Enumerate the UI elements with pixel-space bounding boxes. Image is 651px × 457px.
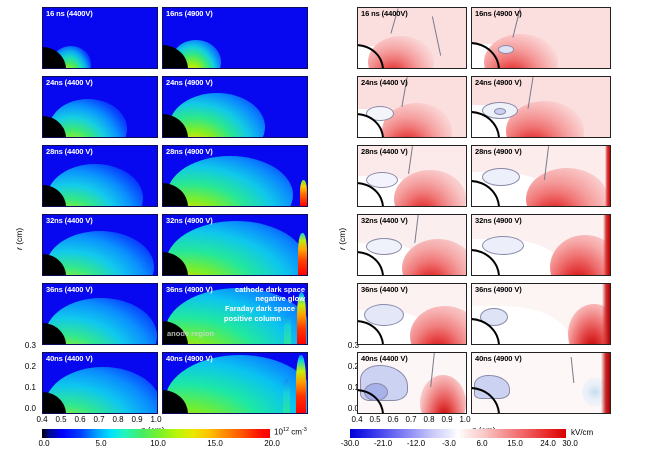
density-panel-16ns-4900V[interactable]: 16ns (4900 V) (162, 7, 308, 69)
panel-label: 36ns (4400 V) (361, 285, 408, 294)
left-ytick-0.0: 0.0 (14, 404, 36, 413)
density-panel-36ns-4900V[interactable]: 36ns (4900 V) cathode dark space negativ… (162, 283, 308, 345)
striation-band (284, 314, 291, 344)
density-panel-28ns-4900V[interactable]: 28ns (4900 V) (162, 145, 308, 207)
field-band (382, 103, 452, 138)
efield-cbtick-6: 6.0 (465, 439, 499, 448)
efield-panel-28ns-4400V[interactable]: 28ns (4400 V) (357, 145, 467, 207)
panel-label: 36ns (4900 V) (475, 285, 522, 294)
left-ytick-0.2: 0.2 (14, 362, 36, 371)
anode-field-wall (602, 284, 610, 344)
right-ytick-0.2: 0.2 (337, 362, 359, 371)
efield-panel-40ns-4900V[interactable]: 40ns (4900 V) (471, 352, 611, 414)
density-panel-24ns-4900V[interactable]: 24ns (4900 V) (162, 76, 308, 138)
right-ytick-0.3: 0.3 (337, 341, 359, 350)
panel-label: 40ns (4900 V) (475, 354, 522, 363)
anode-field-wall (601, 353, 610, 413)
panel-label: 36ns (4900 V) (166, 285, 213, 294)
efield-cbtick-15: 15.0 (498, 439, 532, 448)
contour-line (414, 215, 418, 243)
efield-panel-28ns-4900V[interactable]: 28ns (4900 V) (471, 145, 611, 207)
annotation-positive-column: positive column (224, 314, 281, 323)
negative-field-patch (498, 45, 514, 54)
panel-label: 24ns (4900 V) (475, 78, 522, 87)
efield-cbtick--30: -30.0 (333, 439, 367, 448)
efield-panel-32ns-4900V[interactable]: 32ns (4900 V) (471, 214, 611, 276)
field-band (402, 239, 467, 276)
striation-band (283, 379, 290, 413)
field-band (394, 170, 466, 207)
panel-label: 24ns (4400 V) (46, 78, 93, 87)
density-panel-16ns-4400V[interactable]: 16 ns (4400V) (42, 7, 158, 69)
panel-label: 28ns (4400 V) (46, 147, 93, 156)
efield-panel-40ns-4400V[interactable]: 40ns (4400 V) (357, 352, 467, 414)
field-band (506, 101, 584, 138)
annotation-anode-region: anode region (167, 329, 214, 338)
annotation-cathode-dark-space: cathode dark space (235, 285, 305, 294)
panel-label: 40ns (4400 V) (46, 354, 93, 363)
panel-label: 28ns (4900 V) (475, 147, 522, 156)
panel-label: 16 ns (4400V) (361, 9, 408, 18)
efield-panel-36ns-4900V[interactable]: 36ns (4900 V) (471, 283, 611, 345)
panel-label: 28ns (4400 V) (361, 147, 408, 156)
panel-label: 36ns (4400 V) (46, 285, 93, 294)
efield-cbtick--3: -3.0 (432, 439, 466, 448)
density-cbtick-5: 5.0 (84, 439, 118, 448)
electric-field-group: r (cm) 0.3 0.2 0.1 0.0 16 ns (4400V) (325, 0, 651, 457)
anode-stripe (300, 180, 307, 206)
panel-label: 40ns (4900 V) (166, 354, 213, 363)
density-panel-32ns-4400V[interactable]: 32ns (4400 V) (42, 214, 158, 276)
efield-panel-36ns-4400V[interactable]: 36ns (4400 V) (357, 283, 467, 345)
panel-label: 32ns (4400 V) (361, 216, 408, 225)
left-xtick-1.0: 1.0 (145, 415, 167, 424)
efield-cbtick--12: -12.0 (399, 439, 433, 448)
panel-label: 16ns (4900 V) (166, 9, 213, 18)
anode-field-wall (603, 215, 610, 275)
left-ytick-0.1: 0.1 (14, 383, 36, 392)
efield-cbtick--21: -21.0 (366, 439, 400, 448)
density-panel-40ns-4900V[interactable]: 40ns (4900 V) (162, 352, 308, 414)
field-band (526, 168, 608, 207)
annotation-faraday-dark-space: Faraday dark space (225, 304, 295, 313)
density-cbtick-20: 20.0 (255, 439, 289, 448)
density-panel-24ns-4400V[interactable]: 24ns (4400 V) (42, 76, 158, 138)
right-ytick-0.0: 0.0 (337, 404, 359, 413)
anode-field-wall (605, 146, 610, 206)
density-colorbar-unit: 1012 cm-3 (274, 426, 307, 437)
left-y-axis-label: r (cm) (14, 228, 24, 250)
panel-label: 24ns (4900 V) (166, 78, 213, 87)
figure-root: r (cm) 0.3 0.2 0.1 0.0 16 ns (4400V) 16n… (0, 0, 651, 457)
anode-stripe (296, 355, 306, 413)
efield-panel-32ns-4400V[interactable]: 32ns (4400 V) (357, 214, 467, 276)
density-panel-40ns-4400V[interactable]: 40ns (4400 V) (42, 352, 158, 414)
panel-label: 24ns (4400 V) (361, 78, 408, 87)
density-cbtick-0: 0.0 (27, 439, 61, 448)
density-blob (166, 221, 306, 276)
density-panel-32ns-4900V[interactable]: 32ns (4900 V) (162, 214, 308, 276)
negative-field-patch (366, 238, 402, 255)
contour-line (571, 357, 575, 383)
efield-cbtick-30: 30.0 (553, 439, 587, 448)
efield-colorbar (350, 429, 566, 438)
efield-colorbar-unit: kV/cm (571, 428, 593, 437)
negative-field-patch (482, 236, 524, 255)
field-band (410, 306, 467, 345)
annotation-negative-glow: negative glow (255, 294, 305, 303)
panel-label: 16 ns (4400V) (46, 9, 93, 18)
right-y-axis-label: r (cm) (337, 228, 347, 250)
efield-panel-24ns-4400V[interactable]: 24ns (4400 V) (357, 76, 467, 138)
contour-line (408, 146, 413, 174)
right-xtick-1.0: 1.0 (454, 415, 476, 424)
field-band (420, 375, 466, 414)
density-colorbar (42, 429, 270, 438)
panel-label: 32ns (4900 V) (166, 216, 213, 225)
density-panel-28ns-4400V[interactable]: 28ns (4400 V) (42, 145, 158, 207)
panel-label: 28ns (4900 V) (166, 147, 213, 156)
efield-panel-16ns-4400V[interactable]: 16 ns (4400V) (357, 7, 467, 69)
panel-label: 32ns (4900 V) (475, 216, 522, 225)
efield-panel-24ns-4900V[interactable]: 24ns (4900 V) (471, 76, 611, 138)
panel-label: 40ns (4400 V) (361, 354, 408, 363)
panel-label: 16ns (4900 V) (475, 9, 522, 18)
density-panel-36ns-4400V[interactable]: 36ns (4400 V) (42, 283, 158, 345)
left-ytick-0.3: 0.3 (14, 341, 36, 350)
density-cbtick-10: 10.0 (141, 439, 175, 448)
anode-stripe (298, 233, 307, 275)
field-band (550, 235, 611, 276)
right-ytick-0.1: 0.1 (337, 383, 359, 392)
panel-label: 32ns (4400 V) (46, 216, 93, 225)
electron-density-group: r (cm) 0.3 0.2 0.1 0.0 16 ns (4400V) 16n… (0, 0, 325, 457)
contour-line (432, 16, 441, 55)
negative-field-patch (482, 168, 520, 186)
efield-panel-16ns-4900V[interactable]: 16ns (4900 V) (471, 7, 611, 69)
negative-field-core (494, 108, 506, 115)
density-cbtick-15: 15.0 (198, 439, 232, 448)
